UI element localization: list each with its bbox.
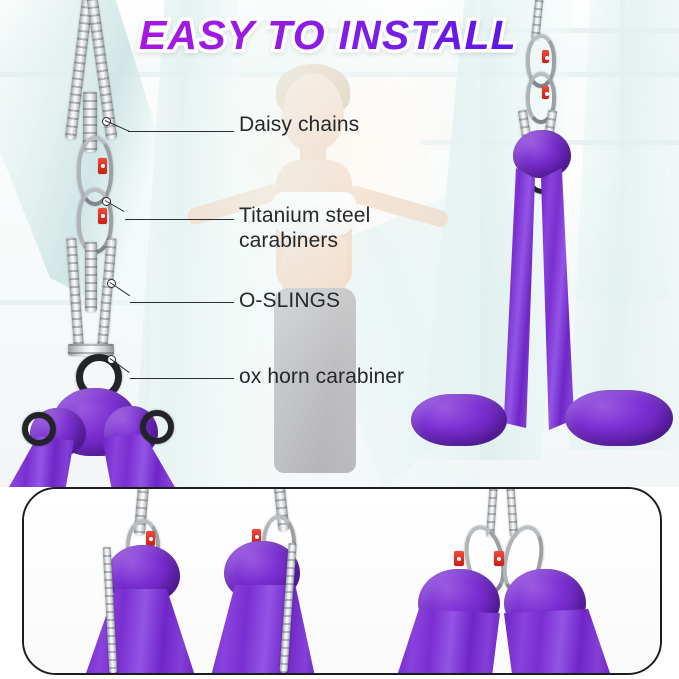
o-sling-strap: [66, 238, 84, 348]
hammock-tail: [504, 609, 612, 675]
detail-cell-left: [62, 489, 222, 673]
detail-cell-middle: [200, 489, 370, 673]
hammock-tail: [501, 168, 535, 428]
callout-line: [130, 302, 234, 303]
product-infographic: Daisy chains Titanium steel carabiners O…: [0, 0, 679, 679]
callout-line: [128, 131, 234, 132]
ox-horn-carabiner-ring: [22, 412, 56, 446]
hammock-pooled-fabric: [565, 390, 673, 446]
callout-label-o-slings: O-SLINGS: [239, 288, 340, 313]
callout-line: [130, 378, 234, 379]
carabiner-lock-sleeve: [542, 50, 549, 63]
left-hammock-bundle: [0, 382, 190, 487]
hammock-pooled-fabric: [411, 394, 507, 446]
o-sling-strap: [97, 238, 117, 348]
carabiner-lock-sleeve: [494, 551, 504, 566]
hammock-knot: [513, 130, 571, 178]
callout-label-daisy-chains: Daisy chains: [239, 112, 359, 137]
hammock-tail: [541, 168, 577, 430]
main-photo-scene: Daisy chains Titanium steel carabiners O…: [0, 0, 679, 487]
hammock-tail: [208, 585, 320, 675]
o-sling-strap: [85, 242, 97, 312]
headline: EASY TO INSTALL: [139, 12, 517, 59]
hammock-tail: [396, 609, 500, 675]
carabiner-lock-sleeve: [98, 208, 107, 224]
hammock-tail: [102, 434, 180, 487]
detail-cell-right: [392, 489, 642, 673]
carabiner-lock-sleeve: [542, 86, 549, 99]
carabiner-lock-sleeve: [454, 551, 464, 566]
callout-label-ox-horn-carabiner: ox horn carabiner: [239, 364, 404, 389]
detail-panel: [22, 487, 662, 675]
callout-line: [125, 219, 234, 220]
carabiner-lock-sleeve: [146, 531, 155, 546]
ox-horn-carabiner-ring: [140, 410, 174, 444]
carabiner-lock-sleeve: [98, 158, 107, 174]
hammock-tail: [84, 589, 196, 675]
right-hammock: [405, 128, 679, 458]
callout-label-titanium-steel-carabiners: Titanium steel carabiners: [239, 203, 370, 253]
